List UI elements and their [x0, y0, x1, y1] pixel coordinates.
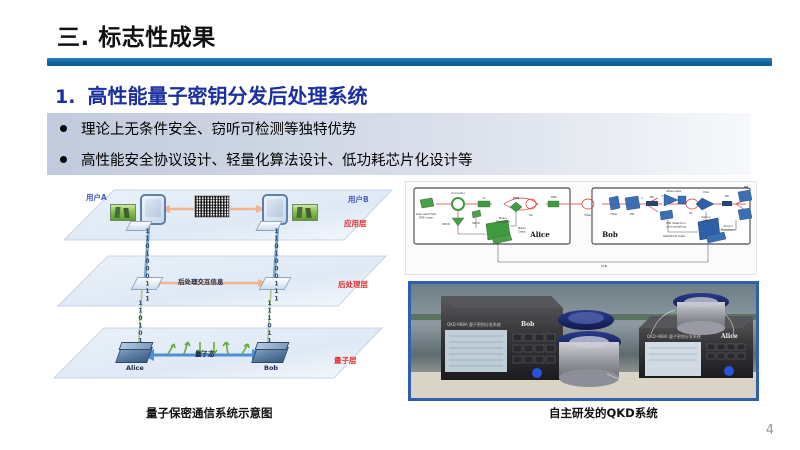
- svg-text:PM: PM: [744, 185, 749, 189]
- layer-label-postprocessing: 后处理层: [338, 279, 368, 290]
- bullet-dot-icon: [60, 156, 67, 163]
- qr-code-graphic: [194, 195, 230, 218]
- svg-text:Circulator: Circulator: [451, 191, 466, 195]
- svg-text:QKD-988A 量子密钥分发系统: QKD-988A 量子密钥分发系统: [447, 321, 501, 327]
- svg-text:Filter: Filter: [610, 212, 618, 216]
- svg-text:SPCD: SPCD: [472, 221, 481, 225]
- user-label-a: 用户A: [86, 192, 107, 203]
- device-photo-a: [110, 204, 136, 221]
- list-item: 理论上无条件安全、窃听可检测等独特优势: [47, 113, 751, 144]
- binary-stream-left-top: 1101000111: [144, 228, 151, 303]
- binary-stream-right-bottom: 111011: [266, 300, 273, 345]
- binary-stream-left-bottom: 110101: [137, 300, 144, 345]
- svg-text:PBM: PBM: [513, 196, 520, 200]
- bullet-dot-icon: [60, 125, 67, 132]
- node-label-alice: Alice: [126, 364, 144, 372]
- title-divider: [47, 58, 772, 66]
- svg-text:DFB Laser: DFB Laser: [419, 216, 434, 220]
- section-heading: 1. 高性能量子密钥分发后处理系统: [55, 80, 367, 109]
- page-title: 三. 标志性成果: [57, 18, 216, 52]
- svg-text:Bob: Bob: [521, 321, 534, 328]
- svg-text:1: 1: [641, 196, 643, 200]
- svg-text:VOA: VOA: [703, 190, 709, 194]
- svg-text:BS: BS: [650, 195, 654, 199]
- quantum-network-diagram: 应用层 后处理层 量子层 用户A 用户B 1101000111 11010001…: [48, 182, 393, 397]
- svg-text:DL: DL: [529, 213, 533, 217]
- figure-photo-caption: 自主研发的QKD系统: [549, 405, 658, 421]
- qkd-hardware-photo: QKD-988A 量子密钥分发系统 Bob: [408, 281, 759, 401]
- list-item: 高性能安全协议设计、轻量化算法设计、低功耗芯片化设计等: [47, 144, 751, 175]
- device-photo-b: [292, 204, 318, 221]
- qkd-optical-schematic: .cmp{font-family:"DejaVu Sans","Liberati…: [405, 181, 757, 275]
- svg-text:and sampling: and sampling: [666, 225, 686, 229]
- svg-text:Statistical Data: Statistical Data: [663, 234, 685, 238]
- svg-text:DL: DL: [689, 211, 693, 215]
- layer-label-quantum: 量子层: [334, 355, 357, 366]
- section-heading-text: 高性能量子密钥分发后处理系统: [87, 80, 367, 109]
- slide-root: 三. 标志性成果 1. 高性能量子密钥分发后处理系统 理论上无条件安全、窃听可检…: [0, 0, 800, 450]
- svg-text:SPCD: SPCD: [442, 222, 451, 226]
- photo-content: QKD-988A 量子密钥分发系统 Bob: [411, 284, 756, 398]
- quantum-device-alice: [118, 342, 152, 362]
- svg-text:Bob: Bob: [602, 230, 618, 239]
- svg-text:Alice: Alice: [529, 230, 550, 239]
- svg-text:CI: CI: [483, 196, 486, 200]
- user-label-b: 用户B: [348, 194, 369, 205]
- svg-text:BS: BS: [725, 194, 729, 198]
- binary-stream-right-top: 1101000111: [273, 228, 280, 303]
- figure-left-caption: 量子保密通信系统示意图: [146, 405, 273, 421]
- layer-label-application: 应用层: [344, 218, 367, 229]
- quantum-arrow-label: 量子态: [195, 348, 215, 358]
- svg-text:Fiber: Fiber: [584, 213, 592, 217]
- svg-text:2: 2: [661, 194, 663, 198]
- bullet-text: 高性能安全协议设计、轻量化算法设计、低功耗芯片化设计等: [81, 149, 473, 170]
- svg-text:PBC: PBC: [551, 195, 557, 199]
- svg-text:Processor: Processor: [496, 220, 511, 224]
- page-number: 4: [766, 423, 774, 438]
- bullet-panel: 理论上无条件安全、窃听可检测等独特优势 高性能安全协议设计、轻量化算法设计、低功…: [47, 113, 751, 175]
- postprocess-arrow-label: 后处理交互信息: [178, 276, 224, 286]
- svg-text:LAN: LAN: [601, 264, 607, 268]
- bullet-text: 理论上无条件安全、窃听可检测等独特优势: [81, 118, 357, 139]
- section-number: 1.: [55, 86, 75, 108]
- quantum-device-bob: [254, 342, 288, 362]
- node-label-bob: Bob: [264, 364, 278, 372]
- svg-text:Data: Data: [519, 230, 526, 234]
- svg-text:Processor: Processor: [721, 228, 736, 232]
- svg-text:Alice: Alice: [720, 333, 738, 340]
- svg-text:Data: Data: [703, 219, 710, 223]
- svg-text:PM: PM: [630, 212, 635, 216]
- svg-text:3: 3: [661, 210, 663, 214]
- svg-text:Attenuator: Attenuator: [666, 189, 682, 193]
- optical-schematic-svg: .cmp{font-family:"DejaVu Sans","Liberati…: [406, 182, 756, 274]
